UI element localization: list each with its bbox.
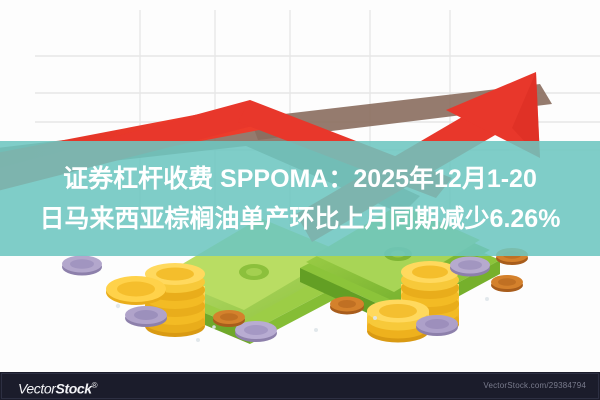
watermark-url: VectorStock.com/29384794 bbox=[483, 381, 586, 391]
floor-mask bbox=[0, 345, 600, 372]
vectorstock-logo: VectorStock® bbox=[18, 378, 97, 397]
caption-line-2: 日马来西亚棕榈油单产环比上月同期减少6.26% bbox=[40, 199, 561, 239]
brand-name-stock: Stock bbox=[56, 381, 92, 397]
brand-trademark-icon: ® bbox=[92, 381, 98, 390]
watermark-bar: VectorStock® VectorStock.com/29384794 bbox=[0, 372, 600, 400]
brand-name-vector: Vector bbox=[18, 381, 56, 397]
news-banner: 证券杠杆收费 SPPOMA：2025年12月1-20 日马来西亚棕榈油单产环比上… bbox=[0, 0, 600, 400]
caption-line-1: 证券杠杆收费 SPPOMA：2025年12月1-20 bbox=[63, 159, 537, 199]
caption-overlay-band: 证券杠杆收费 SPPOMA：2025年12月1-20 日马来西亚棕榈油单产环比上… bbox=[0, 141, 600, 256]
gold-coin-flat bbox=[106, 276, 166, 305]
